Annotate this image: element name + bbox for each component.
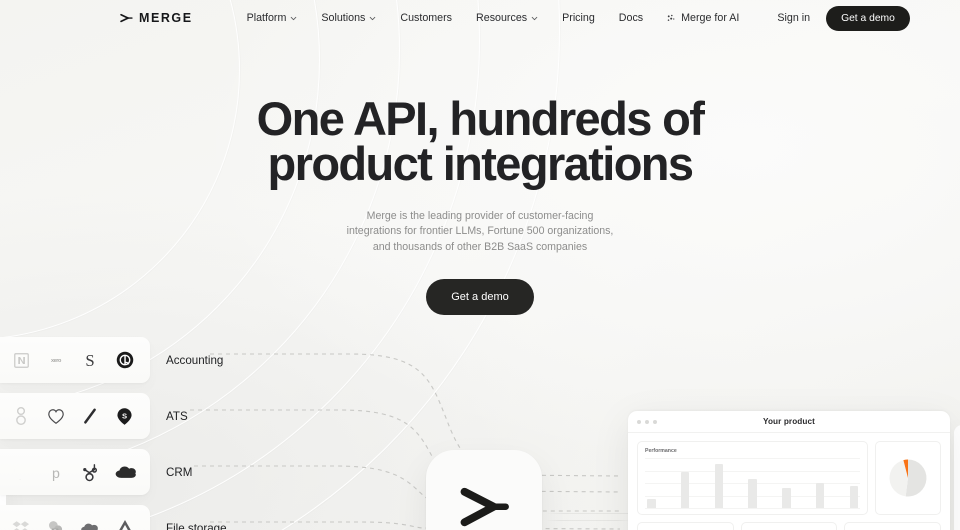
xero-icon: xero xyxy=(44,348,68,372)
chevron-down-icon xyxy=(290,15,297,22)
your-product-window: Your product Performance xyxy=(628,411,950,530)
nav-item-merge-for-ai[interactable]: Merge for AI xyxy=(655,8,751,28)
nav-item-label: Resources xyxy=(476,12,527,24)
integration-logo-card: xero S xyxy=(0,337,150,383)
nav-item-label: Docs xyxy=(619,12,643,24)
smartrecruiters-icon: S xyxy=(113,404,137,428)
nav-item-platform[interactable]: Platform xyxy=(235,8,310,28)
integration-logo-card: S xyxy=(0,393,150,439)
pie-chart-panel xyxy=(875,441,941,515)
nav-item-docs[interactable]: Docs xyxy=(607,8,655,28)
dashboard-mini-card xyxy=(637,522,734,530)
integration-logo-card: p xyxy=(0,449,150,495)
quickbooks-icon xyxy=(113,348,137,372)
hero-subtitle-line-1: Merge is the leading provider of custome… xyxy=(367,210,594,222)
window-dot[interactable] xyxy=(637,420,641,424)
category-label: Accounting xyxy=(166,354,223,367)
brand-logo[interactable]: MERGE xyxy=(120,11,193,25)
nav-item-label: Solutions xyxy=(321,12,365,24)
merge-landing-page: MERGE Platform Solutions Customers Resou… xyxy=(0,0,960,530)
svg-text:xero: xero xyxy=(51,358,62,364)
category-row-file-storage[interactable]: S File storage xyxy=(0,500,470,530)
performance-bar-chart-panel: Performance xyxy=(637,441,868,515)
hero-subtitle-line-2: integrations for frontier LLMs, Fortune … xyxy=(347,225,614,237)
window-titlebar: Your product xyxy=(628,411,950,433)
dashboard-top-row: Performance xyxy=(637,441,941,515)
divider-line xyxy=(546,520,632,521)
window-title: Your product xyxy=(763,417,815,426)
integration-logo-card: S xyxy=(0,505,150,530)
nav-item-solutions[interactable]: Solutions xyxy=(309,8,388,28)
window-dot[interactable] xyxy=(653,420,657,424)
header-actions: Sign in Get a demo xyxy=(771,6,910,31)
svg-text:S: S xyxy=(122,411,127,420)
bar xyxy=(748,479,757,508)
merge-logo-badge xyxy=(426,450,542,530)
integration-categories: xero S Accounting xyxy=(0,332,470,530)
ai-sparkle-icon xyxy=(667,14,677,23)
merge-arrow-icon xyxy=(458,482,510,530)
category-label: CRM xyxy=(166,466,192,479)
brand-name: MERGE xyxy=(139,11,193,25)
bar xyxy=(782,488,791,508)
site-header: MERGE Platform Solutions Customers Resou… xyxy=(0,0,960,36)
bar xyxy=(715,464,724,508)
bar xyxy=(647,499,656,508)
hubspot-icon xyxy=(78,460,102,484)
category-row-accounting[interactable]: xero S Accounting xyxy=(0,332,470,388)
nav-item-label: Platform xyxy=(247,12,287,24)
svg-text:S: S xyxy=(86,351,95,370)
sign-in-link[interactable]: Sign in xyxy=(771,8,816,28)
bar xyxy=(816,483,825,508)
dashboard-bottom-cards xyxy=(637,522,941,530)
nav-item-pricing[interactable]: Pricing xyxy=(550,8,607,28)
greenhouse-icon xyxy=(9,404,33,428)
nav-item-label: Merge for AI xyxy=(681,12,739,24)
category-row-crm[interactable]: p xyxy=(0,444,470,500)
adjacent-panel-sliver-right xyxy=(954,425,960,530)
dashboard-mini-card xyxy=(844,522,941,530)
bar-series xyxy=(645,458,860,508)
sage-icon: S xyxy=(78,348,102,372)
ashby-slash-icon xyxy=(78,404,102,428)
google-drive-icon xyxy=(113,516,137,530)
nav-item-resources[interactable]: Resources xyxy=(464,8,550,28)
hero-subtitle-line-3: and thousands of other B2B SaaS companie… xyxy=(373,241,587,253)
nav-item-label: Customers xyxy=(400,12,452,24)
chart-title: Performance xyxy=(645,448,860,454)
chevron-down-icon xyxy=(531,15,538,22)
bar-chart-plot-area xyxy=(645,458,860,508)
svg-text:p: p xyxy=(52,466,60,482)
window-body: Performance xyxy=(628,433,950,530)
get-a-demo-button-hero[interactable]: Get a demo xyxy=(426,279,533,315)
gridline xyxy=(645,508,860,509)
merge-arrow-icon xyxy=(120,12,133,25)
nav-item-label: Pricing xyxy=(562,12,595,24)
hero-section: One API, hundreds of product integration… xyxy=(0,96,960,315)
dashboard-mini-card xyxy=(741,522,838,530)
pie-slice xyxy=(906,460,927,497)
chevron-down-icon xyxy=(369,15,376,22)
category-row-ats[interactable]: S ATS xyxy=(0,388,470,444)
lever-heart-icon xyxy=(44,404,68,428)
category-label: File storage xyxy=(166,522,227,530)
get-a-demo-button-header[interactable]: Get a demo xyxy=(826,6,910,31)
hero-subtitle: Merge is the leading provider of custome… xyxy=(0,209,960,255)
page-title: One API, hundreds of product integration… xyxy=(0,96,960,186)
dropbox-icon xyxy=(9,516,33,530)
category-label: ATS xyxy=(166,410,188,423)
onedrive-icon xyxy=(78,516,102,530)
sharepoint-icon: S xyxy=(44,516,68,530)
bar xyxy=(681,472,690,508)
netsuite-icon xyxy=(9,348,33,372)
bar xyxy=(850,486,859,509)
window-traffic-lights xyxy=(637,420,657,424)
pipedrive-icon: p xyxy=(44,460,68,484)
salesforce-cloud-icon xyxy=(113,460,137,484)
close-icon xyxy=(9,460,33,484)
primary-navigation: Platform Solutions Customers Resources xyxy=(235,8,752,28)
hero-title-line-2: product integrations xyxy=(0,141,960,186)
pie-chart xyxy=(886,456,930,500)
window-dot[interactable] xyxy=(645,420,649,424)
nav-item-customers[interactable]: Customers xyxy=(388,8,464,28)
